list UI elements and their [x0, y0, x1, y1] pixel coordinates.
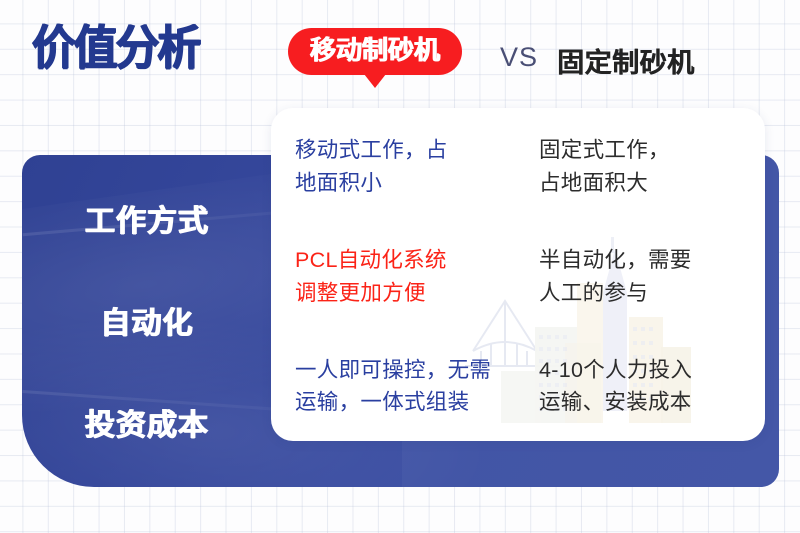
cell-fixed-work-mode: 固定式工作， 占地面积大 — [539, 134, 755, 199]
cell-mobile-investment-cost: 一人即可操控，无需 运输，一体式组装 — [295, 354, 511, 419]
poster-root: 价值分析 移动制砂机 VS 固定制砂机 工作方式 自动化 投资成本 — [0, 0, 800, 533]
comparison-columns: 移动式工作，占 地面积小 PCL自动化系统 调整更加方便 一人即可操控，无需 运… — [271, 108, 765, 441]
page-title: 价值分析 — [32, 24, 199, 71]
cell-mobile-work-mode: 移动式工作，占 地面积小 — [295, 134, 511, 199]
comparison-column-fixed: 固定式工作， 占地面积大 半自动化，需要 人工的参与 4-10个人力投入 运输、… — [521, 134, 765, 419]
category-label-work-mode: 工作方式 — [85, 196, 209, 240]
comparison-card: 移动式工作，占 地面积小 PCL自动化系统 调整更加方便 一人即可操控，无需 运… — [271, 108, 765, 441]
category-label-automation: 自动化 — [101, 298, 194, 342]
cell-fixed-automation: 半自动化，需要 人工的参与 — [539, 244, 755, 309]
badge-tail-icon — [364, 74, 386, 88]
header: 价值分析 移动制砂机 VS 固定制砂机 — [0, 0, 800, 108]
cell-mobile-automation: PCL自动化系统 调整更加方便 — [295, 244, 511, 309]
category-label-column: 工作方式 自动化 投资成本 — [22, 155, 272, 487]
cell-fixed-investment-cost: 4-10个人力投入 运输、安装成本 — [539, 354, 755, 419]
vs-label: VS — [500, 42, 538, 73]
mobile-product-badge-label: 移动制砂机 — [288, 28, 462, 75]
category-label-investment-cost: 投资成本 — [85, 400, 209, 444]
fixed-product-title: 固定制砂机 — [557, 41, 695, 80]
comparison-column-mobile: 移动式工作，占 地面积小 PCL自动化系统 调整更加方便 一人即可操控，无需 运… — [271, 134, 521, 419]
mobile-product-badge[interactable]: 移动制砂机 — [288, 28, 462, 75]
